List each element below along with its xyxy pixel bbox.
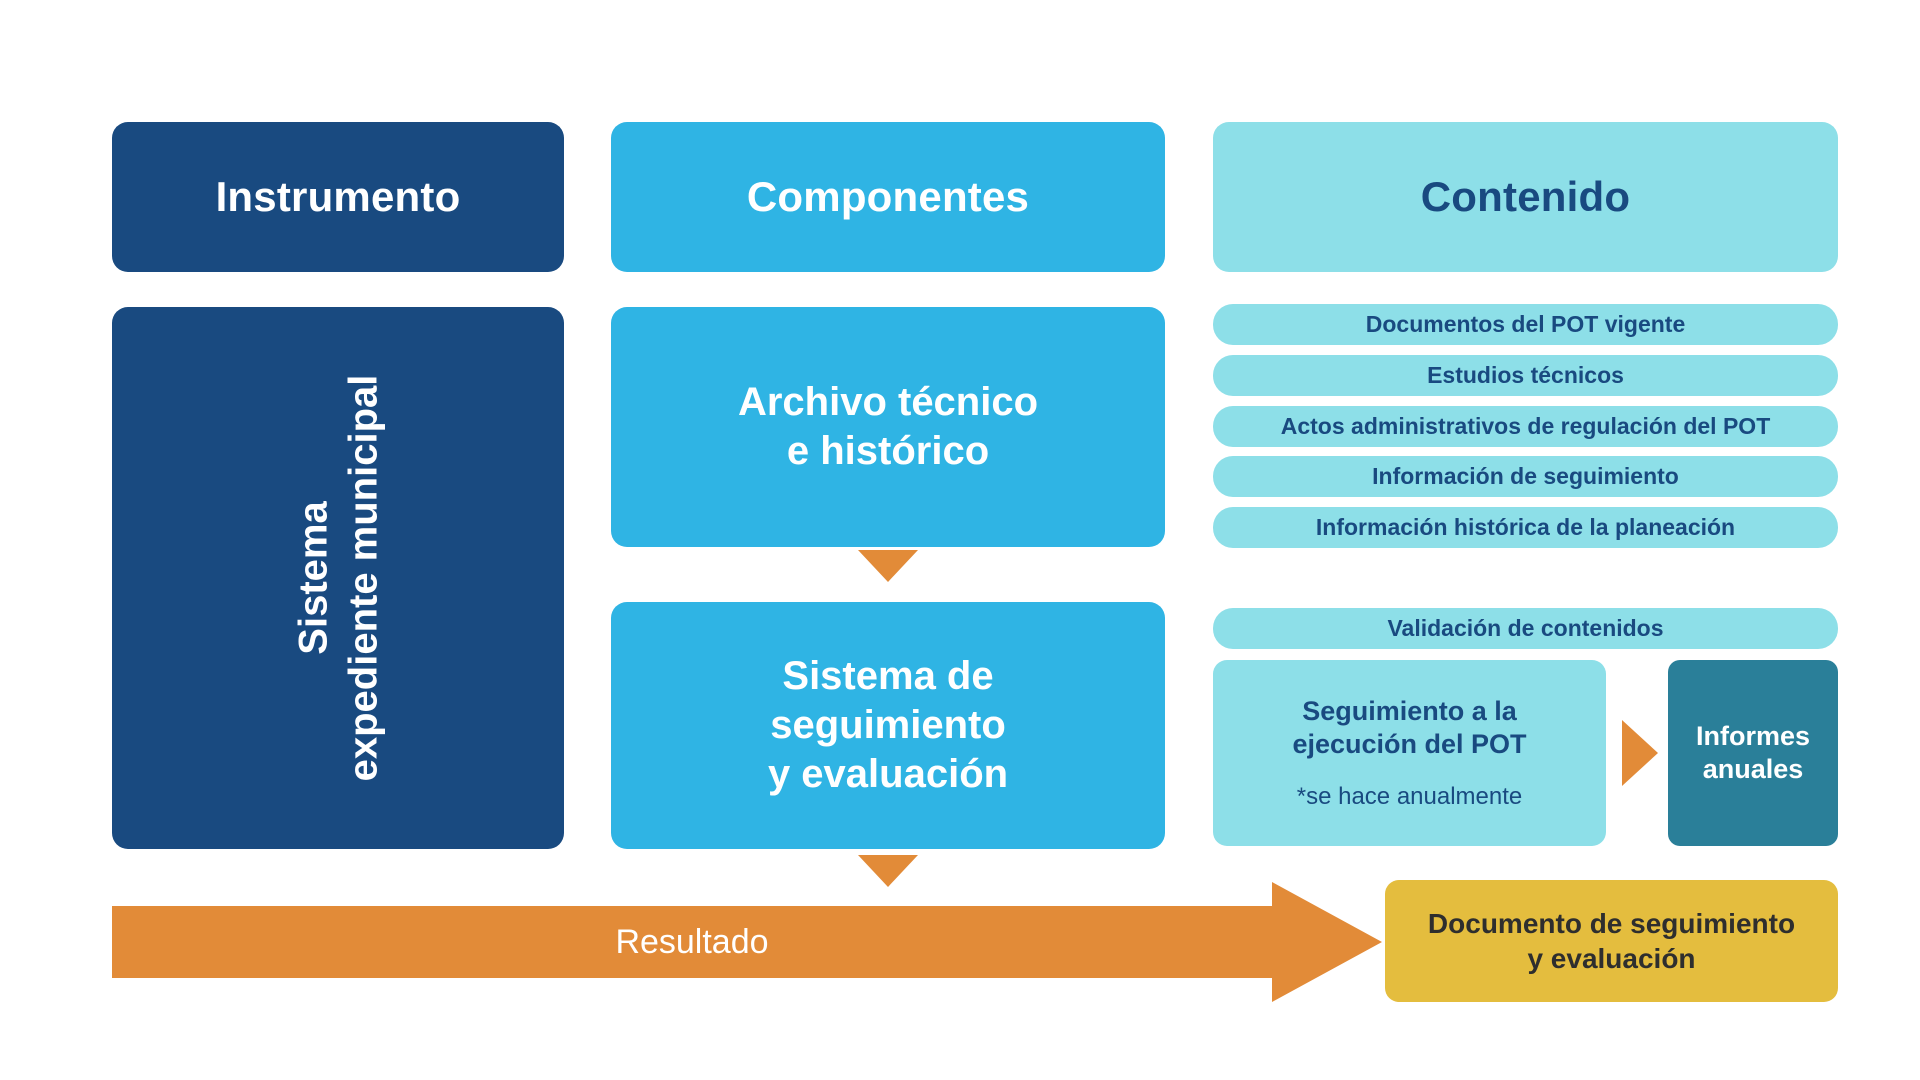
content-pill-documentos-pot: Documentos del POT vigente	[1213, 304, 1838, 345]
instrument-vertical-label: Sistema expediente municipal	[288, 375, 388, 782]
content-pill-estudios-tecnicos: Estudios técnicos	[1213, 355, 1838, 396]
resultado-arrow-icon	[112, 882, 1382, 1002]
content-pill-label: Estudios técnicos	[1427, 362, 1624, 389]
content-pill-label: Información histórica de la planeación	[1316, 514, 1735, 541]
seguimiento-note: *se hace anualmente	[1297, 783, 1523, 811]
documento-line-2: y evaluación	[1428, 941, 1795, 976]
informes-line-2: anuales	[1696, 753, 1810, 786]
component-archivo-text: Archivo técnico e histórico	[738, 378, 1038, 476]
instrument-label-line-1: Sistema	[288, 375, 338, 782]
header-instrumento: Instrumento	[112, 122, 564, 272]
component-box-archivo-tecnico: Archivo técnico e histórico	[611, 307, 1165, 547]
content-pill-label: Actos administrativos de regulación del …	[1281, 413, 1771, 440]
content-pill-label: Documentos del POT vigente	[1366, 311, 1686, 338]
seguimiento-line-2: ejecución del POT	[1292, 728, 1526, 761]
seguimiento-line-1: Seguimiento a la	[1292, 695, 1526, 728]
component-sistema-text: Sistema de seguimiento y evaluación	[768, 652, 1008, 798]
content-pill-informacion-historica: Información histórica de la planeación	[1213, 507, 1838, 548]
header-componentes-label: Componentes	[747, 173, 1029, 221]
header-contenido: Contenido	[1213, 122, 1838, 272]
component-sistema-line-3: y evaluación	[768, 750, 1008, 799]
component-archivo-line-2: e histórico	[738, 427, 1038, 476]
content-pill-actos-administrativos: Actos administrativos de regulación del …	[1213, 406, 1838, 447]
component-archivo-line-1: Archivo técnico	[738, 378, 1038, 427]
informes-text: Informes anuales	[1696, 720, 1810, 786]
seguimiento-title: Seguimiento a la ejecución del POT	[1292, 695, 1526, 761]
component-box-sistema-seguimiento: Sistema de seguimiento y evaluación	[611, 602, 1165, 849]
informes-line-1: Informes	[1696, 720, 1810, 753]
seguimiento-ejecucion-box: Seguimiento a la ejecución del POT *se h…	[1213, 660, 1606, 846]
content-pill-label: Información de seguimiento	[1372, 463, 1679, 490]
header-componentes: Componentes	[611, 122, 1165, 272]
documento-seguimiento-evaluacion-box: Documento de seguimiento y evaluación	[1385, 880, 1838, 1002]
arrow-right-icon-seguimiento-to-informes	[1622, 720, 1658, 786]
documento-text: Documento de seguimiento y evaluación	[1428, 906, 1795, 976]
header-contenido-label: Contenido	[1421, 173, 1630, 221]
diagram-canvas: Instrumento Componentes Contenido Sistem…	[0, 0, 1920, 1080]
informes-anuales-box: Informes anuales	[1668, 660, 1838, 846]
header-instrumento-label: Instrumento	[216, 173, 461, 221]
content-pill-informacion-seguimiento: Información de seguimiento	[1213, 456, 1838, 497]
content-pill-validacion-contenidos: Validación de contenidos	[1213, 608, 1838, 649]
component-sistema-line-1: Sistema de	[768, 652, 1008, 701]
instrument-box: Sistema expediente municipal	[112, 307, 564, 849]
instrument-label-line-2: expediente municipal	[338, 375, 388, 782]
arrow-down-icon-archivo-to-sistema	[858, 550, 918, 582]
component-sistema-line-2: seguimiento	[768, 701, 1008, 750]
documento-line-1: Documento de seguimiento	[1428, 906, 1795, 941]
content-pill-label: Validación de contenidos	[1387, 615, 1663, 642]
